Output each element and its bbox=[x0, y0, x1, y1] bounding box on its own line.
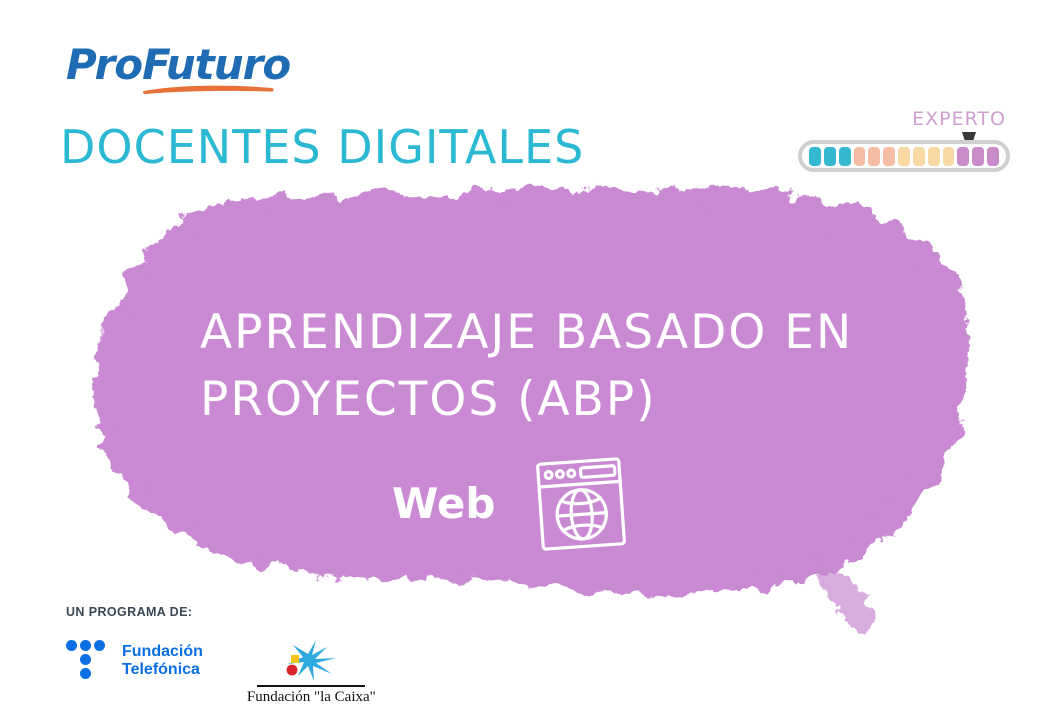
level-segment-4 bbox=[854, 147, 866, 166]
course-title-block: APRENDIZAJE BASADO EN PROYECTOS (ABP) bbox=[200, 300, 900, 433]
page-title: DOCENTES DIGITALES bbox=[60, 124, 584, 170]
level-segment-1 bbox=[809, 147, 821, 166]
level-segment-8 bbox=[913, 147, 925, 166]
la-caixa-divider bbox=[257, 685, 365, 687]
sponsors-logo-row: Fundación Telefónica Fundación "la Caixa… bbox=[66, 638, 376, 706]
telefonica-wordmark-line2: Telefónica bbox=[122, 661, 203, 679]
la-caixa-logo: Fundación "la Caixa" bbox=[247, 638, 376, 706]
level-segment-3 bbox=[839, 147, 851, 166]
browser-globe-icon bbox=[529, 452, 633, 556]
course-format-label: Web bbox=[392, 483, 495, 525]
sponsors-section: UN PROGRAMA DE: Fundación Telefónica Fun… bbox=[66, 605, 376, 706]
level-label: EXPERTO bbox=[912, 108, 1006, 130]
course-title: APRENDIZAJE BASADO EN PROYECTOS (ABP) bbox=[200, 300, 900, 433]
level-segment-11 bbox=[957, 147, 969, 166]
level-segment-7 bbox=[898, 147, 910, 166]
profuturo-wordmark: ProFuturo bbox=[66, 44, 326, 86]
level-progress-track bbox=[798, 140, 1010, 172]
profuturo-logo: ProFuturo bbox=[66, 44, 326, 106]
profuturo-wordmark-futuro: Futuro bbox=[142, 40, 290, 89]
sponsor-fundacion-la-caixa: Fundación "la Caixa" bbox=[247, 638, 376, 706]
la-caixa-wordmark: Fundación "la Caixa" bbox=[247, 689, 376, 706]
level-segment-12 bbox=[972, 147, 984, 166]
sponsor-fundacion-telefonica: Fundación Telefónica bbox=[66, 638, 203, 684]
course-format: Web bbox=[392, 452, 633, 556]
level-segment-2 bbox=[824, 147, 836, 166]
la-caixa-star-icon bbox=[280, 638, 342, 682]
profuturo-wordmark-pro: Pro bbox=[66, 40, 142, 89]
level-segment-10 bbox=[943, 147, 955, 166]
telefonica-wordmark-line1: Fundación bbox=[122, 643, 203, 661]
level-segment-6 bbox=[883, 147, 895, 166]
sponsors-heading: UN PROGRAMA DE: bbox=[66, 605, 376, 619]
level-segment-13 bbox=[987, 147, 999, 166]
level-segment-5 bbox=[868, 147, 880, 166]
level-indicator: EXPERTO bbox=[796, 108, 1012, 178]
level-segment-9 bbox=[928, 147, 940, 166]
telefonica-dots-icon bbox=[66, 638, 112, 684]
telefonica-wordmark: Fundación Telefónica bbox=[122, 643, 203, 679]
